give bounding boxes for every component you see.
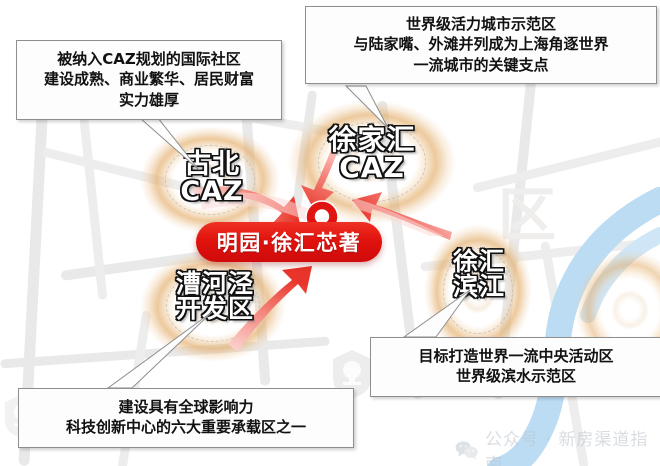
callout-gubei[interactable]: 被纳入CAZ规划的国际社区 建设成熟、商业繁华、居民财富 实力雄厚	[16, 40, 282, 120]
project-name-label: 明园·徐汇芯著	[217, 227, 361, 257]
district-label-gubei: 古北 CAZ	[164, 152, 260, 205]
callout-binjiang[interactable]: 目标打造世界一流中央活动区 世界级滨水示范区	[370, 337, 660, 397]
callout-line: 实力雄厚	[23, 90, 275, 110]
callout-caohejing[interactable]: 建设具有全球影响力 科技创新中心的六大重要承载区之一	[18, 388, 354, 448]
callout-line: 建设成熟、商业繁华、居民财富	[23, 69, 275, 89]
district-label-binjiang: 徐汇 滨江	[434, 250, 524, 300]
callout-line: 建设具有全球影响力	[25, 397, 347, 417]
map-figure: 区	[0, 0, 660, 466]
project-name-badge[interactable]: 明园·徐汇芯著	[196, 222, 382, 262]
callout-xujiahui[interactable]: 世界级活力城市示范区 与陆家嘴、外滩并列成为上海角逐世界 一流城市的关键支点	[305, 6, 657, 84]
callout-line: 目标打造世界一流中央活动区	[377, 346, 655, 366]
wechat-icon	[455, 440, 478, 460]
callout-line: 被纳入CAZ规划的国际社区	[23, 49, 275, 69]
callout-line: 与陆家嘴、外滩并列成为上海角逐世界	[312, 34, 650, 54]
watermark: 公众号 · 新房渠道指南	[455, 425, 660, 466]
callout-line: 世界级活力城市示范区	[312, 14, 650, 34]
callout-line: 世界级滨水示范区	[377, 366, 655, 386]
district-label-caohejing: 漕河泾 开发区	[160, 272, 270, 322]
callout-line: 一流城市的关键支点	[312, 55, 650, 75]
watermark-text: 公众号 · 新房渠道指南	[485, 425, 660, 466]
district-label-xujiahui: 徐家汇 CAZ	[310, 126, 434, 181]
callout-line: 科技创新中心的六大重要承载区之一	[25, 417, 347, 437]
